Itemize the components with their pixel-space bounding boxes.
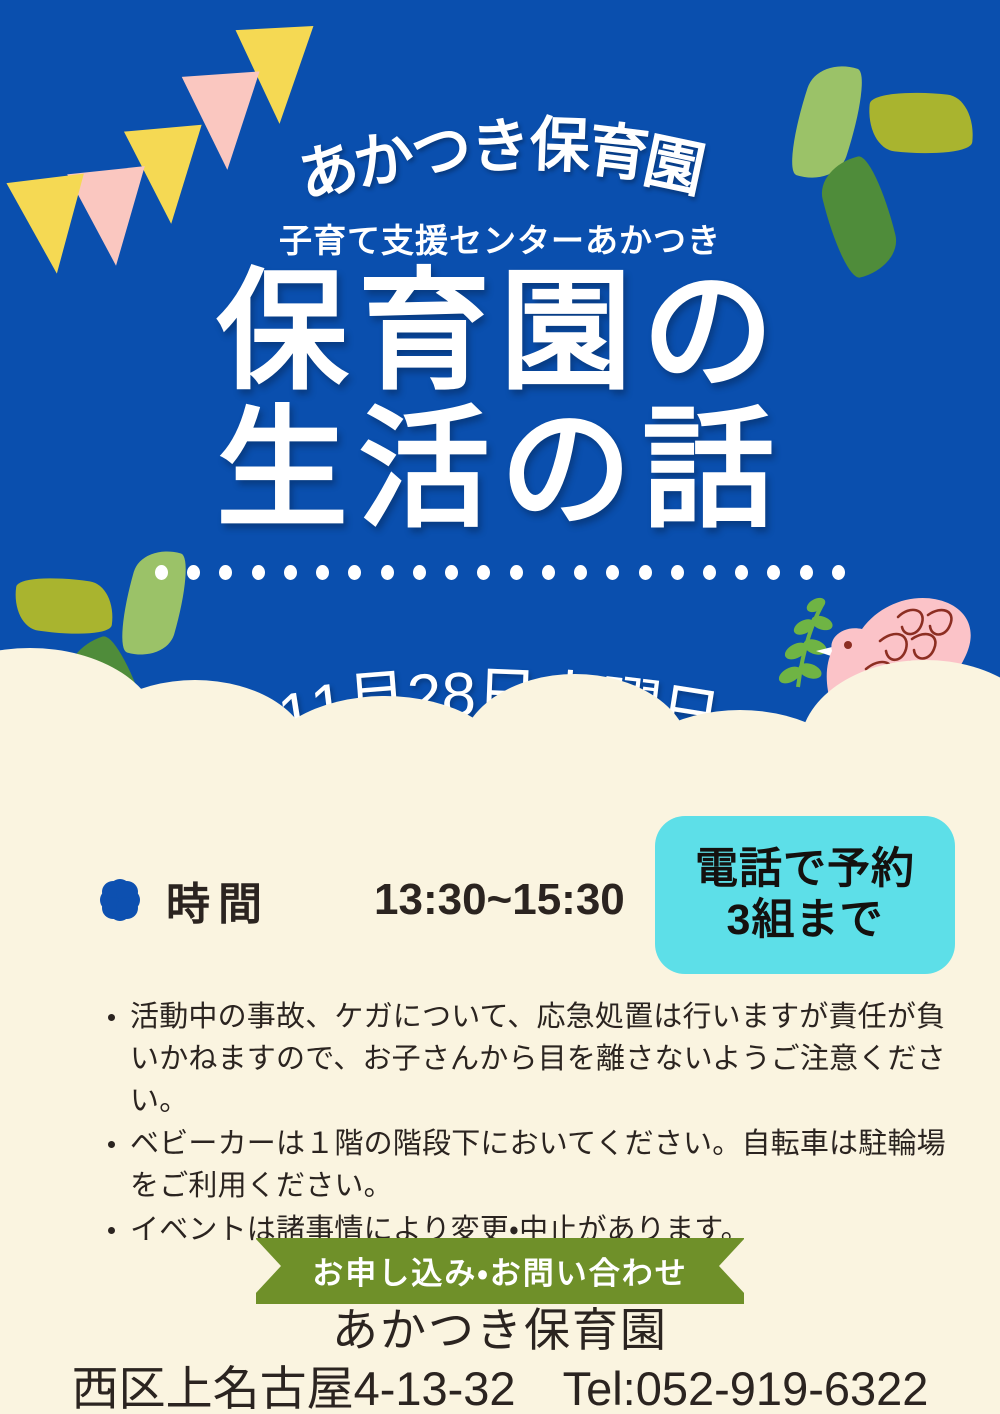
divider-dot: [252, 565, 265, 580]
note-item: ベビーカーは１階の階段下においてください。自転車は駐輪場をご利用ください。: [130, 1124, 970, 1208]
divider-dot: [219, 565, 232, 580]
date-char: 2: [405, 661, 442, 733]
divider-dot: [639, 565, 652, 580]
divider-dot: [510, 565, 523, 580]
date-char: 日: [474, 644, 540, 736]
date-char: 月: [342, 647, 411, 742]
time-value: 13:30~15:30: [374, 875, 625, 925]
reservation-line-2: 3組まで: [727, 896, 884, 945]
title-char: 保: [528, 96, 591, 185]
divider-dot: [316, 565, 329, 580]
time-label: 時間: [166, 868, 270, 932]
time-row: 時間 13:30~15:30: [100, 868, 625, 932]
divider-dot: [735, 565, 748, 580]
divider-dot: [477, 565, 490, 580]
date-char: 火: [534, 647, 603, 742]
divider-dot: [606, 565, 619, 580]
center-subtitle: 子育て支援センターあかつき: [0, 214, 1000, 262]
title-char: つ: [406, 100, 476, 194]
title-char: 育: [584, 101, 654, 195]
flower-bullet-icon: [100, 879, 140, 921]
footer-address-tel: 西区上名古屋4-13-32 Tel:052-919-6322: [0, 1350, 1000, 1414]
title-char: き: [468, 96, 532, 186]
leaf-icon-top-right-2: [865, 87, 977, 160]
leaf-icon-left-1: [11, 571, 118, 640]
divider-dot: [671, 565, 684, 580]
date-char: 8: [441, 660, 475, 731]
dove-icon: [770, 575, 1000, 780]
divider-dot: [445, 565, 458, 580]
title-char: 園: [637, 112, 714, 210]
divider-dot: [284, 565, 297, 580]
main-title-line-1: 保育園の: [0, 262, 1000, 402]
main-title-line-2: 生活の話: [0, 400, 1000, 540]
divider-dot: [381, 565, 394, 580]
reservation-line-1: 電話で予約: [695, 845, 915, 894]
reservation-badge: 電話で予約 3組まで: [655, 816, 955, 974]
note-item: 活動中の事故、ケガについて、応急処置は行いますが責任が負いかねますので、お子さん…: [130, 997, 970, 1122]
divider-dot: [187, 565, 200, 580]
date-char: 日: [653, 660, 728, 759]
olive-branch-icon: [776, 595, 834, 687]
divider-dot: [574, 565, 587, 580]
divider-dot: [155, 565, 168, 580]
divider-dot: [348, 565, 361, 580]
divider-dot: [542, 565, 555, 580]
divider-dot: [413, 565, 426, 580]
leaf-icon-left-2: [112, 542, 196, 663]
dotted-divider: [155, 565, 845, 580]
divider-dot: [703, 565, 716, 580]
dove-eye: [844, 641, 852, 649]
notes-list: 活動中の事故、ケガについて、応急処置は行いますが責任が負いかねますので、お子さん…: [96, 997, 970, 1254]
poster-root: あかつき保育園 子育て支援センターあかつき 保育園の 生活の話 11月28日火曜…: [0, 0, 1000, 1414]
header-blue-panel: あかつき保育園 子育て支援センターあかつき 保育園の 生活の話 11月28日火曜…: [0, 0, 1000, 800]
title-char: か: [345, 107, 420, 204]
